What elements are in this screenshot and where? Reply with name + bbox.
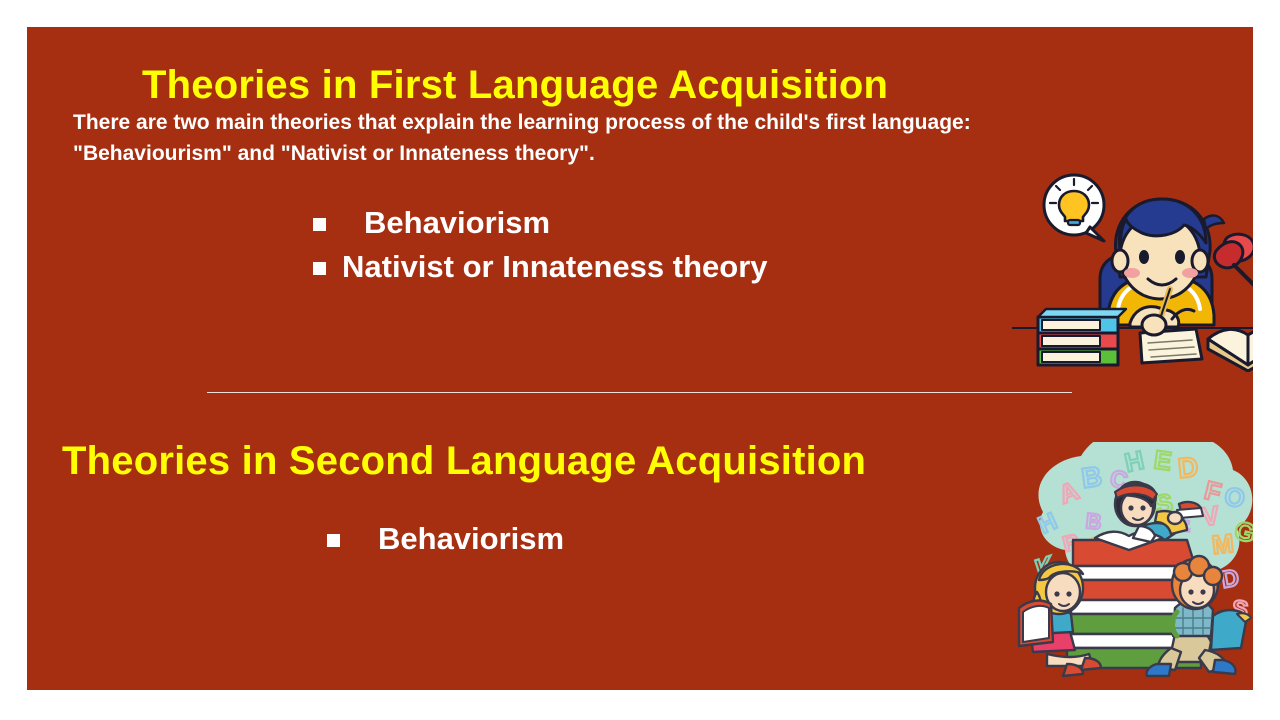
page-title-first-language: Theories in First Language Acquisition bbox=[142, 63, 888, 108]
square-bullet-icon bbox=[313, 218, 326, 231]
slide-canvas: Theories in First Language Acquisition T… bbox=[27, 27, 1253, 690]
list-item: Behaviorism bbox=[327, 521, 1027, 557]
book-stack-icon bbox=[1038, 309, 1126, 365]
list-item: Behaviorism bbox=[313, 205, 1013, 241]
svg-text:B: B bbox=[1080, 460, 1104, 494]
thought-bubble-icon bbox=[1044, 175, 1104, 241]
svg-text:D: D bbox=[1176, 451, 1199, 484]
desk-lamp-icon bbox=[1214, 234, 1253, 287]
list-item-label: Behaviorism bbox=[364, 205, 550, 241]
square-bullet-icon bbox=[327, 534, 340, 547]
list-item-label: Behaviorism bbox=[378, 521, 564, 557]
section-divider bbox=[207, 392, 1072, 393]
bullet-list-first-language: Behaviorism Nativist or Innateness theor… bbox=[313, 205, 1013, 293]
intro-paragraph: There are two main theories that explain… bbox=[73, 107, 1093, 169]
open-book-icon bbox=[1208, 329, 1253, 371]
kids-reading-illustration: A B C H E D F H R B Q C K J J S E V O M bbox=[1007, 442, 1253, 682]
list-item: Nativist or Innateness theory bbox=[313, 249, 1013, 285]
svg-text:M: M bbox=[1210, 528, 1235, 560]
boy-studying-illustration bbox=[1012, 157, 1253, 372]
list-item-label: Nativist or Innateness theory bbox=[342, 249, 768, 285]
page-title-second-language: Theories in Second Language Acquisition bbox=[62, 439, 866, 484]
bullet-list-second-language: Behaviorism bbox=[327, 521, 1027, 565]
square-bullet-icon bbox=[313, 262, 326, 275]
svg-text:B: B bbox=[1084, 508, 1102, 535]
